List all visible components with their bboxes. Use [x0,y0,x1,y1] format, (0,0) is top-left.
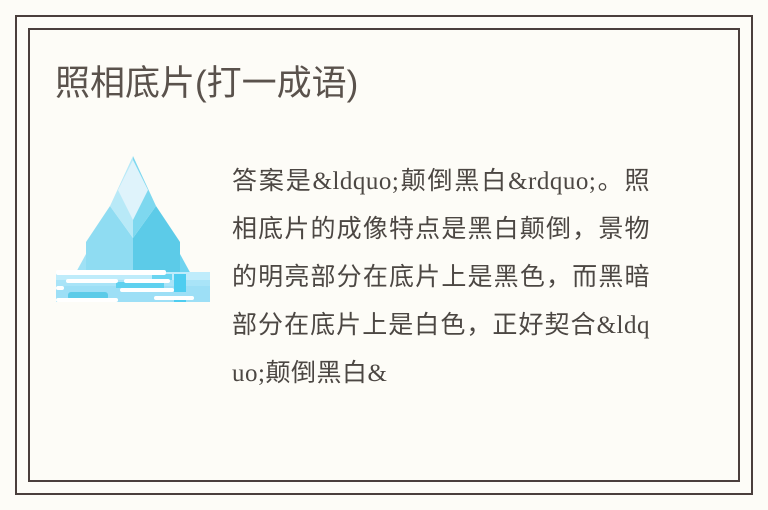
page-title: 照相底片(打一成语) [55,62,358,106]
answer-paragraph: 答案是&ldquo;颠倒黑白&rdquo;。照相底片的成像特点是黑白颠倒，景物的… [232,158,650,398]
page-root: 照相底片(打一成语) [0,0,768,510]
page-content: 照相底片(打一成语) [0,0,768,510]
iceberg-icon [56,146,210,302]
